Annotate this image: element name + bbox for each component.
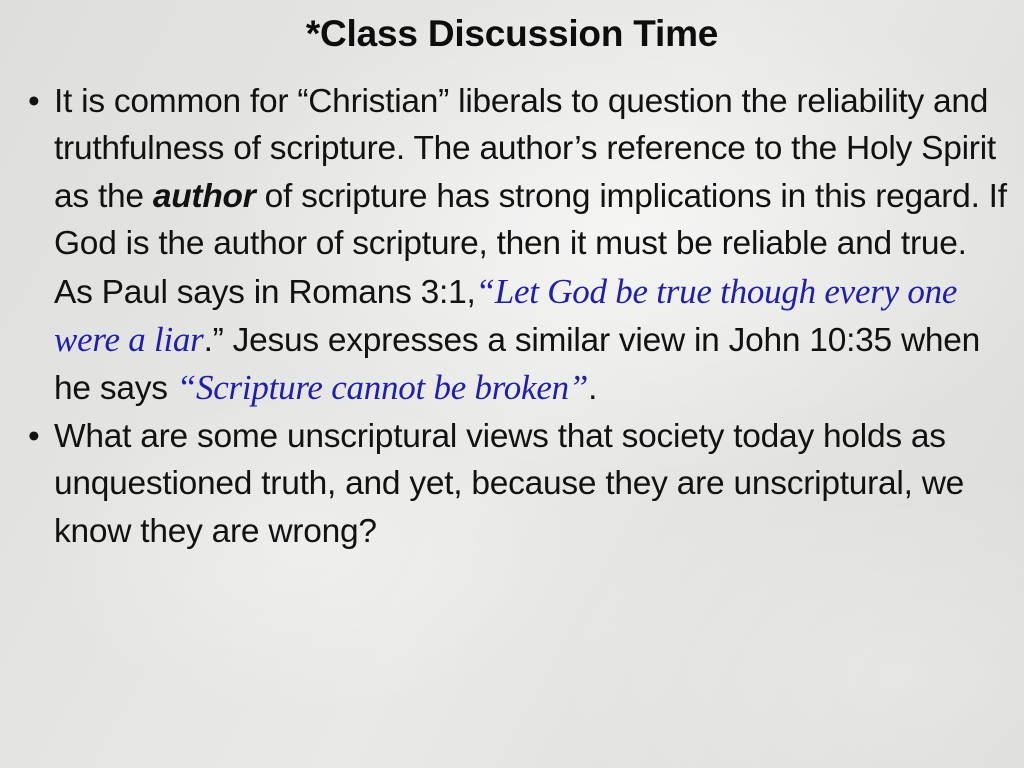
- text-run-emphasis-author: author: [153, 178, 256, 215]
- list-item-text: It is common for “Christian” liberals to…: [54, 83, 1007, 407]
- bullet-glyph-icon: •: [28, 78, 39, 125]
- text-run-plain: What are some unscriptural views that so…: [54, 418, 964, 550]
- presentation-slide: *Class Discussion Time • It is common fo…: [0, 0, 1024, 768]
- page-title: *Class Discussion Time: [0, 11, 1024, 57]
- text-run-plain: .: [588, 370, 597, 407]
- bullet-glyph-icon: •: [28, 413, 39, 460]
- text-run-scripture-quote-john: “Scripture cannot be broken”: [177, 368, 588, 407]
- list-item-text: What are some unscriptural views that so…: [54, 418, 964, 550]
- list-item: • What are some unscriptural views that …: [22, 413, 1012, 555]
- bullet-list: • It is common for “Christian” liberals …: [22, 78, 1012, 555]
- list-item: • It is common for “Christian” liberals …: [22, 78, 1012, 413]
